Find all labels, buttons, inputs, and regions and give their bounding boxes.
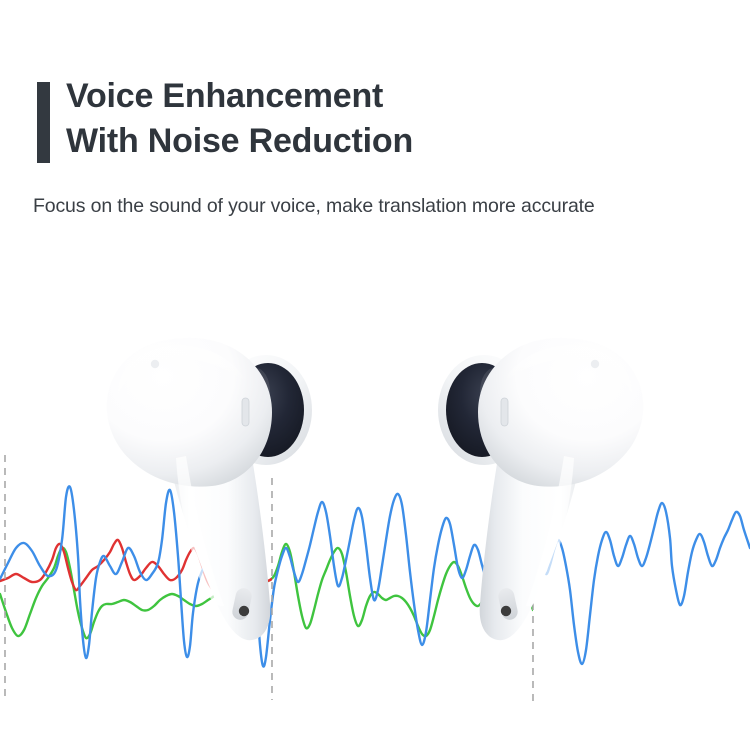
earbuds-svg <box>0 0 750 750</box>
earbud-left-mic-hole <box>239 606 249 616</box>
earbud-right-mic-hole <box>501 606 511 616</box>
earbud-right-led-indicator <box>591 360 599 368</box>
earbud-right-speaker-slot <box>501 398 508 426</box>
earbud-left <box>107 338 312 640</box>
earbud-right <box>438 338 643 640</box>
product-illustration-stage <box>0 0 750 750</box>
earbud-left-led-indicator <box>151 360 159 368</box>
earbud-left-speaker-slot <box>242 398 249 426</box>
earbuds-group <box>0 0 750 750</box>
product-feature-banner: Voice Enhancement With Noise Reduction F… <box>0 0 750 750</box>
